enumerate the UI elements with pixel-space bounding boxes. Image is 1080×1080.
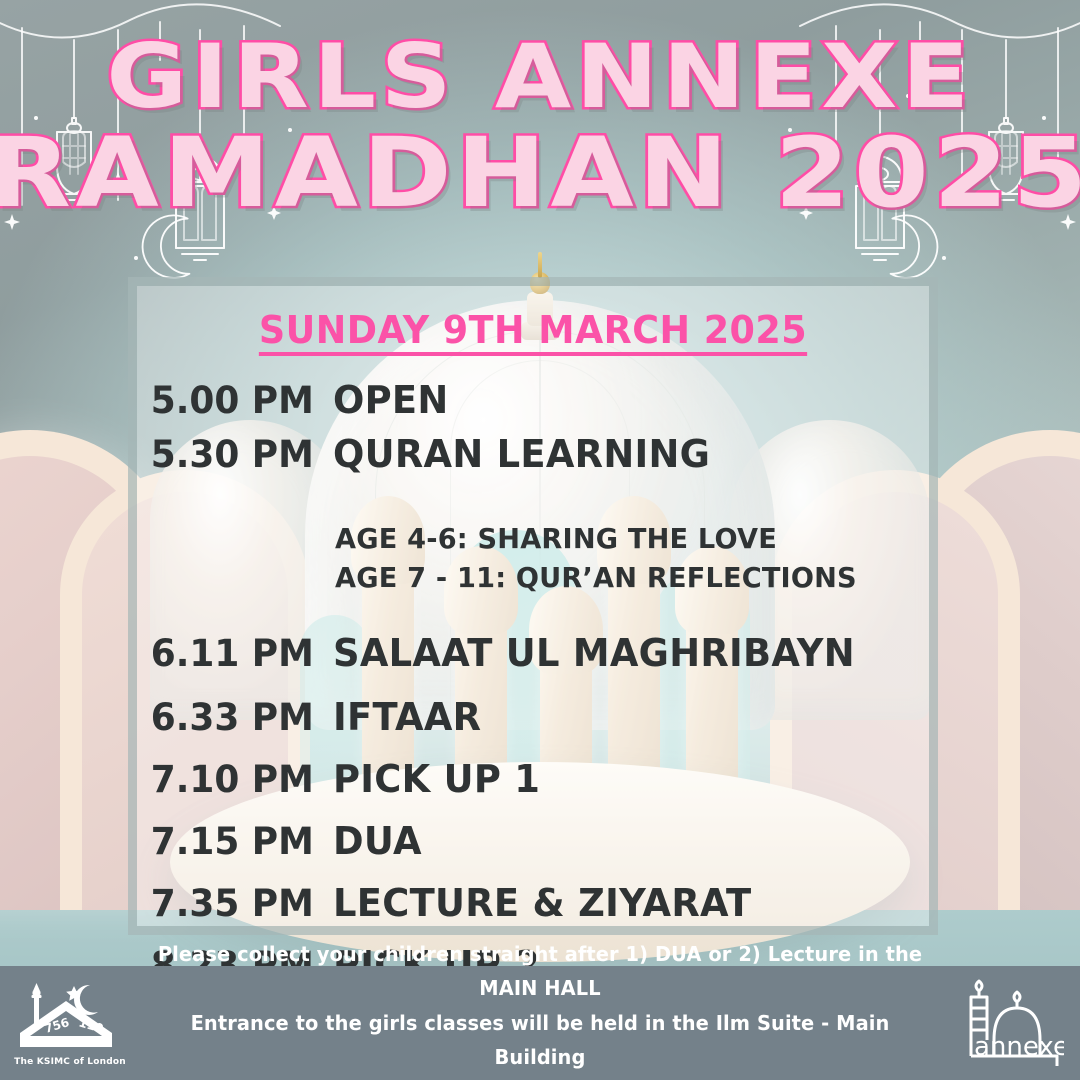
schedule-time: 5.00 PM xyxy=(143,379,327,422)
poster-title: GIRLS ANNEXE RAMADHAN 2025 xyxy=(0,34,1080,220)
ksimc-logo: 756 110 The KSIMC of London xyxy=(0,979,140,1067)
schedule-row-iftaar: 6.33 PM IFTAAR xyxy=(143,695,929,739)
footer-note-3: Classes are catered for 4-11 years old g… xyxy=(152,1075,928,1080)
title-line-1: GIRLS ANNEXE xyxy=(0,34,1080,120)
schedule-list: 5.00 PM OPEN 5.30 PM QURAN LEARNING AGE … xyxy=(137,378,929,987)
schedule-time: 5.30 PM xyxy=(143,433,327,476)
schedule-time: 6.11 PM xyxy=(143,632,327,675)
footer-note-2: Entrance to the girls classes will be he… xyxy=(152,1006,928,1075)
schedule-row-quran-learning: 5.30 PM QURAN LEARNING xyxy=(143,432,929,476)
dome-finial-spire xyxy=(538,252,542,278)
title-line-2: RAMADHAN 2025 xyxy=(0,126,1080,220)
schedule-event: DUA xyxy=(333,819,422,863)
ksimc-mosque-logo-icon: 756 110 xyxy=(14,979,120,1055)
schedule-time: 7.15 PM xyxy=(143,820,327,863)
schedule-panel: SUNDAY 9TH MARCH 2025 5.00 PM OPEN 5.30 … xyxy=(128,277,938,935)
schedule-event: LECTURE & ZIYARAT xyxy=(333,881,751,925)
schedule-event: IFTAAR xyxy=(333,695,481,739)
schedule-event: SALAAT UL MAGHRIBAYN xyxy=(333,631,855,675)
ramadhan-timetable-poster: GIRLS ANNEXE RAMADHAN 2025 SUNDAY 9TH MA… xyxy=(0,0,1080,1080)
schedule-subitem-age-7-11: AGE 7 - 11: QUR’AN REFLECTIONS xyxy=(143,559,905,598)
schedule-row-open: 5.00 PM OPEN xyxy=(143,378,929,422)
schedule-time: 6.33 PM xyxy=(143,696,327,739)
footer-notes: Please collect your children straight af… xyxy=(152,937,928,1080)
schedule-row-salaat-ul-maghribayn: 6.11 PM SALAAT UL MAGHRIBAYN xyxy=(143,631,929,675)
schedule-row-pick-up-1: 7.10 PM PICK UP 1 xyxy=(143,757,929,801)
schedule-time: 7.10 PM xyxy=(143,758,327,801)
schedule-time: 7.35 PM xyxy=(143,882,327,925)
footer-bar: 756 110 The KSIMC of London Please colle… xyxy=(0,966,1080,1080)
schedule-event: OPEN xyxy=(333,378,449,422)
date-heading: SUNDAY 9TH MARCH 2025 xyxy=(153,308,913,352)
annexe-logo: annexe xyxy=(940,975,1080,1071)
schedule-event: PICK UP 1 xyxy=(333,757,540,801)
schedule-row-dua: 7.15 PM DUA xyxy=(143,819,929,863)
schedule-subitem-age-4-6: AGE 4-6: SHARING THE LOVE xyxy=(143,520,905,559)
spacer xyxy=(143,490,929,520)
footer-note-1: Please collect your children straight af… xyxy=(152,937,928,1006)
schedule-event: QURAN LEARNING xyxy=(333,432,710,476)
annexe-mosque-logo-icon: annexe xyxy=(956,975,1064,1071)
ksimc-logo-caption: The KSIMC of London xyxy=(14,1057,126,1067)
annexe-wordmark: annexe xyxy=(974,1032,1064,1062)
schedule-row-lecture-ziyarat: 7.35 PM LECTURE & ZIYARAT xyxy=(143,881,929,925)
